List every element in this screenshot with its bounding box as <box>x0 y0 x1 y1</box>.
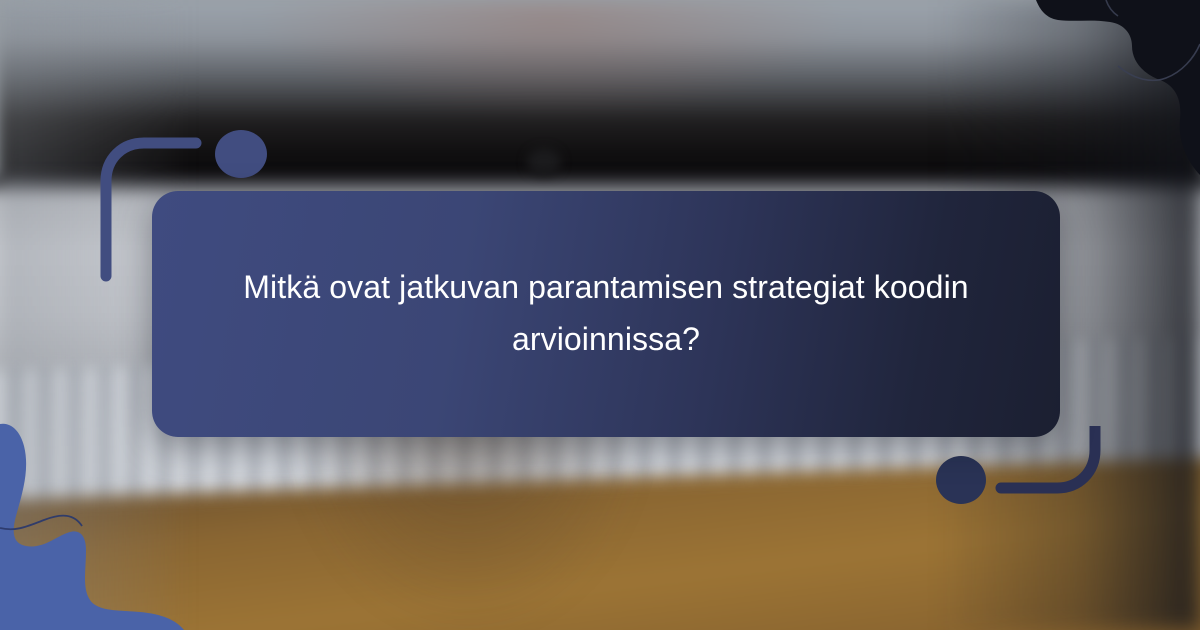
dot-top-left-icon <box>215 130 267 178</box>
social-card-canvas: Mitkä ovat jatkuvan parantamisen strateg… <box>0 0 1200 630</box>
dot-bottom-right-icon <box>936 456 986 504</box>
webcam-dot-icon <box>527 148 561 176</box>
question-card: Mitkä ovat jatkuvan parantamisen strateg… <box>152 191 1060 437</box>
question-text: Mitkä ovat jatkuvan parantamisen strateg… <box>226 262 986 366</box>
